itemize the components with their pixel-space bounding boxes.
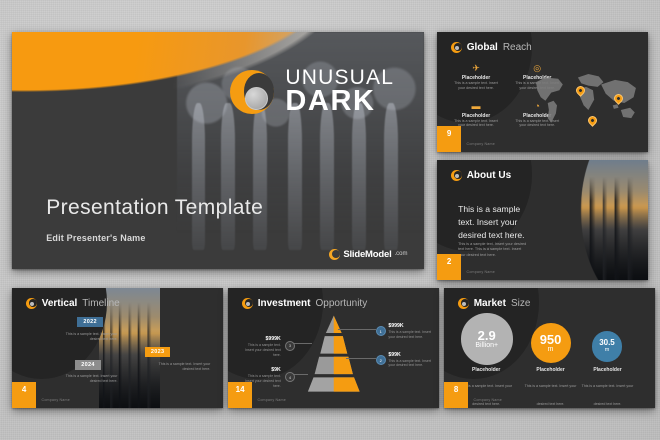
about-headline: This is a sample text. Insert your desir…: [458, 203, 528, 242]
timeline-body-1: This is a sample text. Insert your desir…: [61, 332, 118, 342]
slide-number-badge: 2: [437, 254, 461, 280]
footer-note: Company Name: [474, 398, 502, 402]
invest-node-2[interactable]: 2: [376, 355, 386, 365]
pyramid-chart: [300, 314, 368, 393]
orange-wave-shape: [12, 32, 424, 207]
slide-header: Global Reach: [451, 42, 532, 53]
slide-header: Vertical Timeline: [26, 298, 120, 309]
timeline-body-3: This is a sample text. Insert your desir…: [61, 374, 118, 384]
slide-about-us[interactable]: About Us This is a sample text. Insert y…: [437, 160, 648, 280]
leader-line-2: [346, 358, 376, 359]
caption-heading: Placeholder: [577, 367, 638, 373]
slide-header: Market Size: [458, 298, 531, 309]
watermark-name: SlideModel: [343, 249, 391, 260]
logo-mark-icon: [451, 170, 462, 181]
invest-node-1[interactable]: 1: [376, 326, 386, 336]
city-photo: [517, 160, 648, 280]
slide-investment-opportunity[interactable]: Investment Opportunity 1 $999K This is a…: [228, 288, 439, 408]
invest-label-4: $9K This is a sample text. Insert your d…: [239, 367, 281, 389]
slide-title-light: Reach: [503, 42, 532, 53]
world-map-icon: [528, 63, 644, 135]
metric-unit: m: [548, 346, 554, 353]
slide-title[interactable]: UNUSUAL DARK Presentation Template Edit …: [12, 32, 424, 269]
cell-body: This is a sample text. Insert your desir…: [452, 81, 501, 91]
invest-node-3[interactable]: 3: [285, 341, 295, 351]
metric-value: 950: [540, 333, 562, 346]
slide-title-bold: Vertical: [42, 298, 78, 309]
invest-body: This is a sample text. Insert your desir…: [388, 330, 434, 340]
timeline-year-2023[interactable]: 2023: [145, 347, 170, 357]
slide-title-bold: Global: [467, 42, 498, 53]
logo-mark-icon: [26, 298, 37, 309]
slide-vertical-timeline[interactable]: Vertical Timeline 2022 This is a sample …: [12, 288, 223, 408]
invest-value: $99K: [388, 352, 434, 358]
global-cell-3[interactable]: ▬ Placeholder This is a sample text. Ins…: [452, 102, 501, 129]
slide-number: 4: [22, 385, 26, 394]
watermark-suffix: .com: [395, 251, 408, 257]
invest-label-2: $99K This is a sample text. Insert your …: [388, 352, 434, 369]
invest-label-1: $999K This is a sample text. Insert your…: [388, 323, 434, 340]
slidemodel-logo-icon: [329, 249, 340, 260]
invest-body: This is a sample text. Insert your desir…: [239, 343, 281, 358]
footer-note: Company Name: [467, 142, 495, 146]
footer-note: Company Name: [258, 398, 286, 402]
caption-body: This is a sample text. Insert your desir…: [525, 384, 577, 406]
timeline-year-2022[interactable]: 2022: [77, 317, 102, 327]
market-circle-2[interactable]: 950 m: [531, 323, 571, 363]
caption-body: This is a sample text. Insert your desir…: [582, 384, 634, 406]
slide-market-size[interactable]: Market Size 2.9 Billion+ Placeholder Thi…: [444, 288, 655, 408]
paper-plane-icon: ✈: [452, 64, 501, 73]
logo-mark-icon: [451, 42, 462, 53]
slide-global-reach[interactable]: Global Reach ✈ Placeholder This is a sam…: [437, 32, 648, 152]
market-circle-3[interactable]: 30.5 m: [592, 331, 623, 362]
logo-mark-icon: [458, 298, 469, 309]
about-body: This is a sample text. Insert your desir…: [458, 242, 528, 259]
slide-title-bold: Investment: [258, 298, 311, 309]
footer-note: Company Name: [467, 270, 495, 274]
timeline-year-2024[interactable]: 2024: [75, 360, 100, 370]
slide-number-badge: 9: [437, 126, 461, 152]
briefcase-icon: ▬: [452, 102, 501, 111]
slide-title-light: Opportunity: [316, 298, 368, 309]
logo-circle-icon: [230, 70, 274, 114]
slide-title-light: Timeline: [82, 298, 119, 309]
invest-body: This is a sample text. Insert your desir…: [239, 374, 281, 389]
invest-value: $9K: [239, 367, 281, 373]
leader-line-1: [338, 329, 376, 330]
invest-value: $999K: [388, 323, 434, 329]
slide-header: Investment Opportunity: [242, 298, 368, 309]
slide-number: 2: [447, 257, 451, 266]
slide-title-bold: Market: [474, 298, 506, 309]
invest-node-4[interactable]: 4: [285, 372, 295, 382]
logo-mark-icon: [242, 298, 253, 309]
timeline-body-2: This is a sample text. Insert your desir…: [153, 362, 210, 372]
global-cell-1[interactable]: ✈ Placeholder This is a sample text. Ins…: [452, 64, 501, 91]
slide-title-bold: About Us: [467, 170, 511, 181]
page-title: Presentation Template: [46, 196, 263, 220]
footer-note: Company Name: [42, 398, 70, 402]
slide-thumbnail-grid: UNUSUAL DARK Presentation Template Edit …: [0, 0, 660, 440]
market-caption-3: Placeholder This is a sample text. Inser…: [577, 367, 638, 408]
unusual-dark-logo: UNUSUAL DARK: [230, 68, 394, 116]
slide-header: About Us: [451, 170, 516, 181]
metric-value: 2.9: [478, 329, 496, 342]
slide-number: 8: [454, 385, 458, 394]
slidemodel-watermark: SlideModel .com: [329, 249, 407, 260]
caption-heading: Placeholder: [455, 367, 518, 373]
market-circle-1[interactable]: 2.9 Billion+: [461, 313, 513, 365]
slide-number: 9: [447, 129, 451, 138]
slide-title-light: Size: [511, 298, 530, 309]
metric-unit: m: [605, 347, 610, 353]
slide-number-badge: 8: [444, 382, 468, 408]
logo-line-2: DARK: [285, 88, 394, 116]
invest-value: $999K: [239, 336, 281, 342]
invest-body: This is a sample text. Insert your desir…: [388, 359, 434, 369]
metric-unit: Billion+: [475, 342, 498, 349]
caption-heading: Placeholder: [520, 367, 581, 373]
slide-number-badge: 4: [12, 382, 36, 408]
invest-label-3: $999K This is a sample text. Insert your…: [239, 336, 281, 358]
metric-value: 30.5: [599, 339, 615, 347]
market-caption-2: Placeholder This is a sample text. Inser…: [520, 367, 581, 408]
presenter-name: Edit Presenter's Name: [46, 233, 145, 243]
